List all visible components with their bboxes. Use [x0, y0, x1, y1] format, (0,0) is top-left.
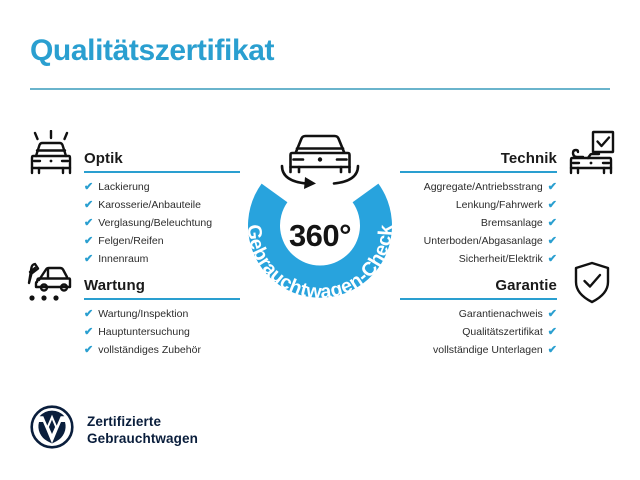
- vw-logo: [30, 405, 74, 454]
- list-item-label: Lenkung/Fahrwerk: [456, 197, 543, 213]
- list-item: ✔Wartung/Inspektion: [84, 306, 240, 322]
- list-item-label: Verglasung/Beleuchtung: [98, 215, 212, 231]
- check-icon: ✔: [548, 233, 557, 249]
- check-icon: ✔: [84, 342, 93, 358]
- list-item-label: Karosserie/Anbauteile: [98, 197, 201, 213]
- section-technik: Technik Aggregate/Antriebsstrang✔ Lenkun…: [400, 143, 557, 169]
- check-icon: ✔: [84, 306, 93, 322]
- list-item-label: Aggregate/Antriebsstrang: [424, 179, 543, 195]
- list-item-label: Wartung/Inspektion: [98, 306, 188, 322]
- section-title-garantie: Garantie: [495, 277, 557, 294]
- vw-footer: Zertifizierte Gebrauchtwagen: [30, 405, 198, 454]
- list-item: ✔Innenraum: [84, 251, 240, 267]
- check-icon: ✔: [548, 324, 557, 340]
- list-item-label: Felgen/Reifen: [98, 233, 163, 249]
- check-icon: ✔: [548, 306, 557, 322]
- certificate-page: Qualitätszertifikat Optik: [0, 0, 640, 480]
- section-title-wartung: Wartung: [84, 277, 145, 294]
- wrench-car-icon: [24, 258, 76, 309]
- check-icon: ✔: [548, 215, 557, 231]
- check-icon: ✔: [84, 251, 93, 267]
- list-item-label: Garantienachweis: [459, 306, 543, 322]
- check-icon: ✔: [84, 197, 93, 213]
- list-item-label: Hauptuntersuchung: [98, 324, 190, 340]
- list-item: ✔Lackierung: [84, 179, 240, 195]
- list-item: ✔Verglasung/Beleuchtung: [84, 215, 240, 231]
- list-item-label: vollständiges Zubehör: [98, 342, 201, 358]
- check-icon: ✔: [84, 179, 93, 195]
- car-shine-icon: [26, 130, 76, 181]
- badge-360-check: Gebrauchtwagen-Check 360°: [234, 124, 406, 314]
- list-item: ✔Hauptuntersuchung: [84, 324, 240, 340]
- check-icon: ✔: [548, 197, 557, 213]
- page-title: Qualitätszertifikat: [30, 34, 274, 68]
- car-checkbox-icon: [566, 130, 616, 181]
- section-garantie: Garantie Garantienachweis✔ Qualitätszert…: [400, 270, 557, 296]
- section-items-technik: Aggregate/Antriebsstrang✔ Lenkung/Fahrwe…: [400, 179, 557, 269]
- section-rule-wartung: [84, 298, 240, 300]
- list-item-label: Lackierung: [98, 179, 149, 195]
- vw-footer-line1: Zertifizierte: [87, 414, 161, 429]
- badge-center-label: 360°: [234, 218, 406, 254]
- list-item: Aggregate/Antriebsstrang✔: [400, 179, 557, 195]
- section-optik: Optik ✔Lackierung ✔Karosserie/Anbauteile…: [84, 143, 240, 169]
- list-item: Sicherheit/Elektrik✔: [400, 251, 557, 267]
- section-rule-optik: [84, 171, 240, 173]
- list-item: Qualitätszertifikat✔: [400, 324, 557, 340]
- list-item: ✔Karosserie/Anbauteile: [84, 197, 240, 213]
- shield-check-icon: [572, 261, 612, 310]
- list-item: ✔vollständiges Zubehör: [84, 342, 240, 358]
- list-item-label: Bremsanlage: [481, 215, 543, 231]
- list-item: Garantienachweis✔: [400, 306, 557, 322]
- check-icon: ✔: [84, 324, 93, 340]
- section-rule-garantie: [400, 298, 557, 300]
- check-icon: ✔: [84, 215, 93, 231]
- check-icon: ✔: [548, 179, 557, 195]
- list-item-label: vollständige Unterlagen: [433, 342, 543, 358]
- section-title-optik: Optik: [84, 150, 123, 167]
- list-item: ✔Felgen/Reifen: [84, 233, 240, 249]
- list-item: Lenkung/Fahrwerk✔: [400, 197, 557, 213]
- section-items-wartung: ✔Wartung/Inspektion ✔Hauptuntersuchung ✔…: [84, 306, 240, 360]
- section-title-technik: Technik: [501, 150, 557, 167]
- list-item-label: Innenraum: [98, 251, 148, 267]
- vw-footer-line2: Gebrauchtwagen: [87, 431, 198, 446]
- check-icon: ✔: [548, 251, 557, 267]
- list-item: Unterboden/Abgasanlage✔: [400, 233, 557, 249]
- section-rule-technik: [400, 171, 557, 173]
- list-item: vollständige Unterlagen✔: [400, 342, 557, 358]
- section-items-optik: ✔Lackierung ✔Karosserie/Anbauteile ✔Verg…: [84, 179, 240, 269]
- car-rotate-icon: [282, 136, 358, 189]
- list-item-label: Sicherheit/Elektrik: [459, 251, 543, 267]
- section-wartung: Wartung ✔Wartung/Inspektion ✔Hauptunters…: [84, 270, 240, 296]
- check-icon: ✔: [84, 233, 93, 249]
- check-icon: ✔: [548, 342, 557, 358]
- list-item-label: Qualitätszertifikat: [462, 324, 543, 340]
- list-item: Bremsanlage✔: [400, 215, 557, 231]
- title-divider: [30, 88, 610, 90]
- list-item-label: Unterboden/Abgasanlage: [424, 233, 543, 249]
- section-items-garantie: Garantienachweis✔ Qualitätszertifikat✔ v…: [400, 306, 557, 360]
- vw-footer-text: Zertifizierte Gebrauchtwagen: [87, 413, 198, 447]
